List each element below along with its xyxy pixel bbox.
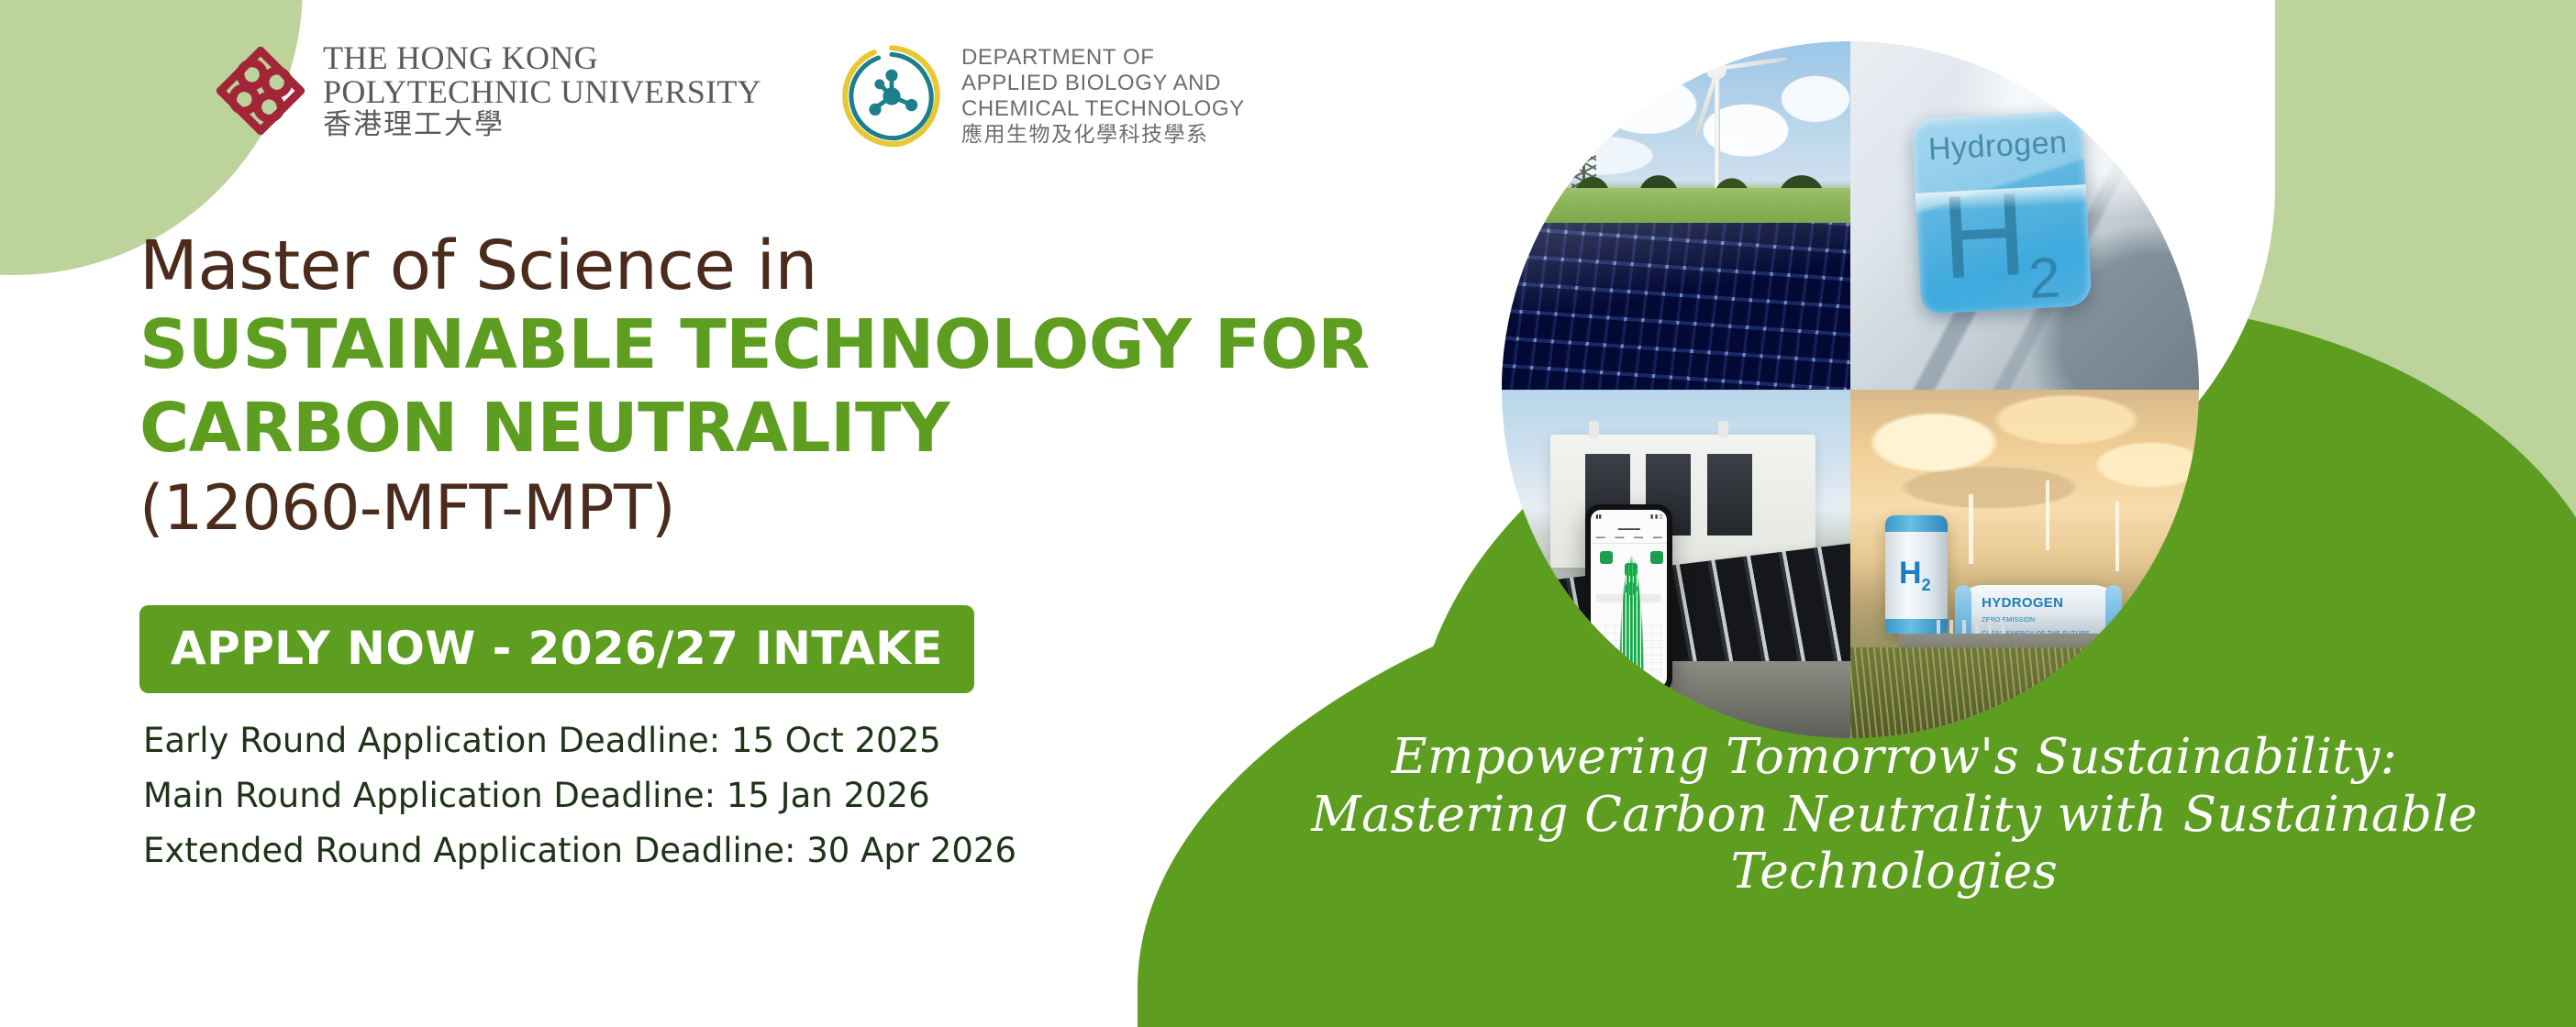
polyu-line-2: POLYTECHNIC UNIVERSITY — [323, 75, 761, 109]
abct-line-2: APPLIED BIOLOGY AND — [961, 71, 1245, 96]
wind-turbine-solar-farm-photo — [1502, 41, 1850, 390]
roof-vent — [1589, 421, 1599, 438]
circular-photo-collage: Hydrogen H2 ▮▮▮ ▮ ▯ ▬▬▬▬ ▬▬▬▬▬▬▬▬ — [1502, 41, 2199, 738]
polyu-line-3-chinese: 香港理工大學 — [323, 111, 761, 140]
deadline-early-round: Early Round Application Deadline: 15 Oct… — [143, 713, 1016, 768]
title-highlight-line-2: CARBON NEUTRALITY — [139, 387, 1451, 469]
tagline-line-2: Mastering Carbon Neutrality with Sustain… — [1234, 787, 2555, 901]
deadline-main-round: Main Round Application Deadline: 15 Jan … — [143, 768, 1016, 823]
hydrogen-fuel-flap: Hydrogen H2 — [1912, 110, 2093, 314]
abct-department-logo: DEPARTMENT OF APPLIED BIOLOGY AND CHEMIC… — [837, 41, 1245, 151]
abct-line-4-chinese: 應用生物及化學科技學系 — [961, 123, 1245, 148]
gravel-ground — [1502, 661, 1850, 738]
tagline-line-1: Empowering Tomorrow's Sustainability: — [1234, 729, 2555, 787]
tank-end-cap — [2105, 585, 2122, 641]
apply-now-button[interactable]: APPLY NOW - 2026/27 INTAKE — [139, 605, 974, 693]
deadline-extended-round: Extended Round Application Deadline: 30 … — [143, 823, 1016, 878]
building-window — [1707, 454, 1752, 536]
hydrogen-label: Hydrogen — [1927, 125, 2068, 168]
programme-code: (12060-MFT-MPT) — [139, 469, 1451, 548]
roof-vent — [1718, 421, 1728, 438]
abct-line-3: CHEMICAL TECHNOLOGY — [961, 96, 1245, 122]
wind-turbine — [1969, 494, 1973, 564]
molecule-dna-icon — [837, 41, 947, 151]
grass-field — [1502, 188, 1850, 226]
tagline: Empowering Tomorrow's Sustainability: Ma… — [1234, 729, 2555, 901]
program-promo-banner: Hydrogen H2 ▮▮▮ ▮ ▯ ▬▬▬▬ ▬▬▬▬▬▬▬▬ — [0, 0, 2576, 1027]
logo-row: THE HONG KONG POLYTECHNIC UNIVERSITY 香港理… — [213, 41, 1245, 151]
smartphone: ▮▮▮ ▮ ▯ ▬▬▬▬ ▬▬▬▬▬▬▬▬ — [1585, 504, 1672, 692]
panel-sheen — [1502, 223, 1850, 390]
hydrogen-fuel-cap-photo: Hydrogen H2 — [1850, 41, 2199, 390]
polyu-wordmark: THE HONG KONG POLYTECHNIC UNIVERSITY 香港理… — [323, 41, 761, 140]
polyu-line-1: THE HONG KONG — [323, 41, 761, 75]
flow-node-grid — [1650, 551, 1663, 564]
hydrogen-plant-sunset-photo: H2 HYDROGEN ZERO EMISSION CLEAN ENERGY O… — [1850, 390, 2199, 738]
title-prefix: Master of Science in — [139, 229, 1451, 304]
wind-turbine — [2046, 480, 2050, 550]
polyu-knot-icon — [213, 43, 308, 138]
solar-monitoring-app-photo: ▮▮▮ ▮ ▯ ▬▬▬▬ ▬▬▬▬▬▬▬▬ — [1502, 390, 1850, 738]
abct-line-1: DEPARTMENT OF — [961, 45, 1245, 71]
production-chart-bars — [1616, 510, 1648, 687]
title-highlight-line-1: SUSTAINABLE TECHNOLOGY FOR — [139, 304, 1451, 386]
tank-h2-label: H2 — [1899, 556, 1931, 595]
tank-top-cap — [1885, 515, 1948, 532]
abct-wordmark: DEPARTMENT OF APPLIED BIOLOGY AND CHEMIC… — [961, 45, 1245, 148]
polyu-logo: THE HONG KONG POLYTECHNIC UNIVERSITY 香港理… — [213, 41, 761, 140]
application-deadlines: Early Round Application Deadline: 15 Oct… — [143, 713, 1016, 878]
grass-blades — [1850, 647, 2199, 738]
vertical-hydrogen-tank: H2 — [1885, 515, 1948, 634]
cloud-texture — [1502, 55, 1850, 181]
page-title: Master of Science in SUSTAINABLE TECHNOL… — [139, 229, 1451, 548]
flow-node-solar — [1600, 551, 1613, 564]
wind-turbine — [2115, 502, 2120, 571]
app-screen: ▮▮▮ ▮ ▯ ▬▬▬▬ ▬▬▬▬▬▬▬▬ — [1591, 510, 1667, 687]
